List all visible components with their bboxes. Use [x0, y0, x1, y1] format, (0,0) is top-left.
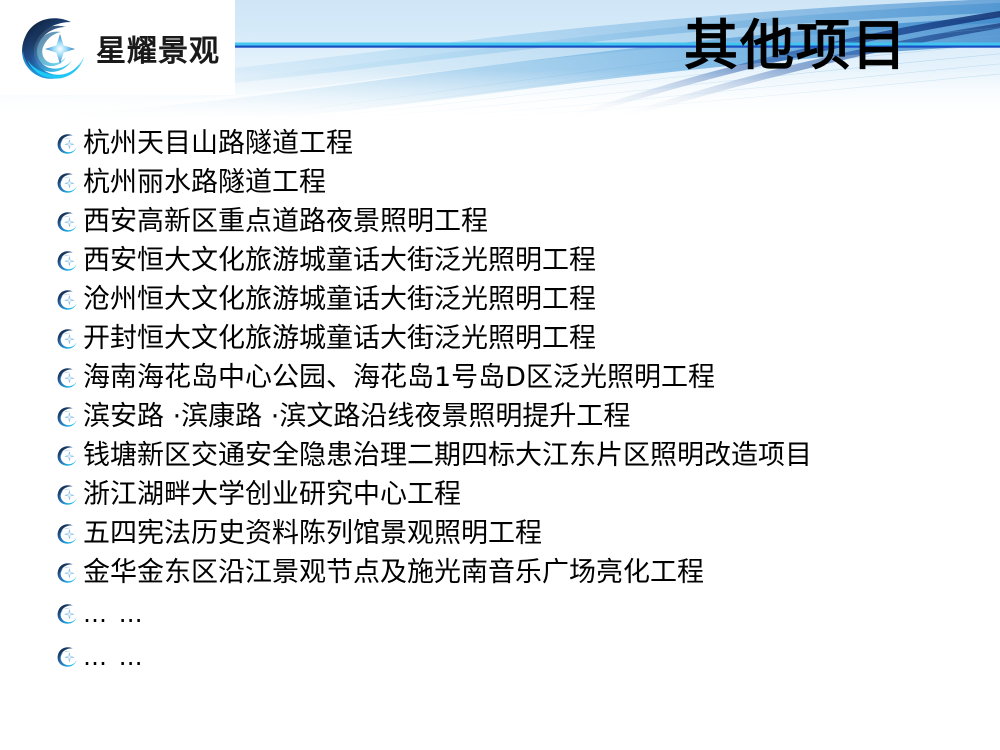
list-item-label: 滨安路 ·滨康路 ·滨文路沿线夜景照明提升工程	[83, 403, 630, 430]
list-item-label: 杭州丽水路隧道工程	[83, 169, 326, 196]
crescent-star-bullet-icon	[56, 603, 78, 625]
crescent-star-bullet-icon	[56, 328, 78, 350]
list-item: 海南海花岛中心公园、海花岛1号岛D区泛光照明工程	[56, 358, 976, 397]
list-item-label: 开封恒大文化旅游城童话大街泛光照明工程	[83, 325, 596, 352]
list-item-label: 海南海花岛中心公园、海花岛1号岛D区泛光照明工程	[83, 364, 715, 391]
list-item-label: 沧州恒大文化旅游城童话大街泛光照明工程	[83, 286, 596, 313]
brand-name-text: 星耀景观	[96, 26, 220, 70]
list-item: 沧州恒大文化旅游城童话大街泛光照明工程	[56, 280, 976, 319]
crescent-star-bullet-icon	[56, 484, 78, 506]
list-item-label: 钱塘新区交通安全隐患治理二期四标大江东片区照明改造项目	[83, 442, 812, 469]
list-item: 杭州天目山路隧道工程	[56, 124, 976, 163]
crescent-star-bullet-icon	[56, 445, 78, 467]
crescent-star-bullet-icon	[56, 367, 78, 389]
page-title: 其他项目	[684, 14, 908, 78]
slide-header: 星耀景观 其他项目	[0, 0, 1000, 118]
crescent-star-bullet-icon	[56, 406, 78, 428]
list-item: … …	[56, 592, 976, 635]
crescent-star-bullet-icon	[56, 523, 78, 545]
list-item: 钱塘新区交通安全隐患治理二期四标大江东片区照明改造项目	[56, 436, 976, 475]
crescent-star-bullet-icon	[56, 172, 78, 194]
list-item: 西安高新区重点道路夜景照明工程	[56, 202, 976, 241]
list-item: 开封恒大文化旅游城童话大街泛光照明工程	[56, 319, 976, 358]
brand-logo-plate: 星耀景观	[0, 0, 235, 95]
list-item: 金华金东区沿江景观节点及施光南音乐广场亮化工程	[56, 553, 976, 592]
list-item-label: … …	[83, 645, 145, 669]
project-list: 杭州天目山路隧道工程 杭州丽水路隧道工程	[56, 124, 976, 678]
list-item: 杭州丽水路隧道工程	[56, 163, 976, 202]
list-item-label: 金华金东区沿江景观节点及施光南音乐广场亮化工程	[83, 559, 704, 586]
crescent-star-bullet-icon	[56, 646, 78, 668]
list-item-label: … …	[83, 602, 145, 626]
crescent-star-bullet-icon	[56, 562, 78, 584]
list-item: 滨安路 ·滨康路 ·滨文路沿线夜景照明提升工程	[56, 397, 976, 436]
list-item: 西安恒大文化旅游城童话大街泛光照明工程	[56, 241, 976, 280]
crescent-star-bullet-icon	[56, 133, 78, 155]
list-item-label: 浙江湖畔大学创业研究中心工程	[83, 481, 461, 508]
presentation-slide: 星耀景观 其他项目 杭州天目山路隧道工程	[0, 0, 1000, 750]
list-item: … …	[56, 635, 976, 678]
crescent-star-bullet-icon	[56, 250, 78, 272]
crescent-star-bullet-icon	[56, 211, 78, 233]
list-item-label: 西安高新区重点道路夜景照明工程	[83, 208, 488, 235]
list-item: 五四宪法历史资料陈列馆景观照明工程	[56, 514, 976, 553]
list-item-label: 杭州天目山路隧道工程	[83, 130, 353, 157]
list-item: 浙江湖畔大学创业研究中心工程	[56, 475, 976, 514]
crescent-star-bullet-icon	[56, 289, 78, 311]
list-item-label: 西安恒大文化旅游城童话大街泛光照明工程	[83, 247, 596, 274]
crescent-star-logo-icon	[14, 13, 90, 83]
list-item-label: 五四宪法历史资料陈列馆景观照明工程	[83, 520, 542, 547]
